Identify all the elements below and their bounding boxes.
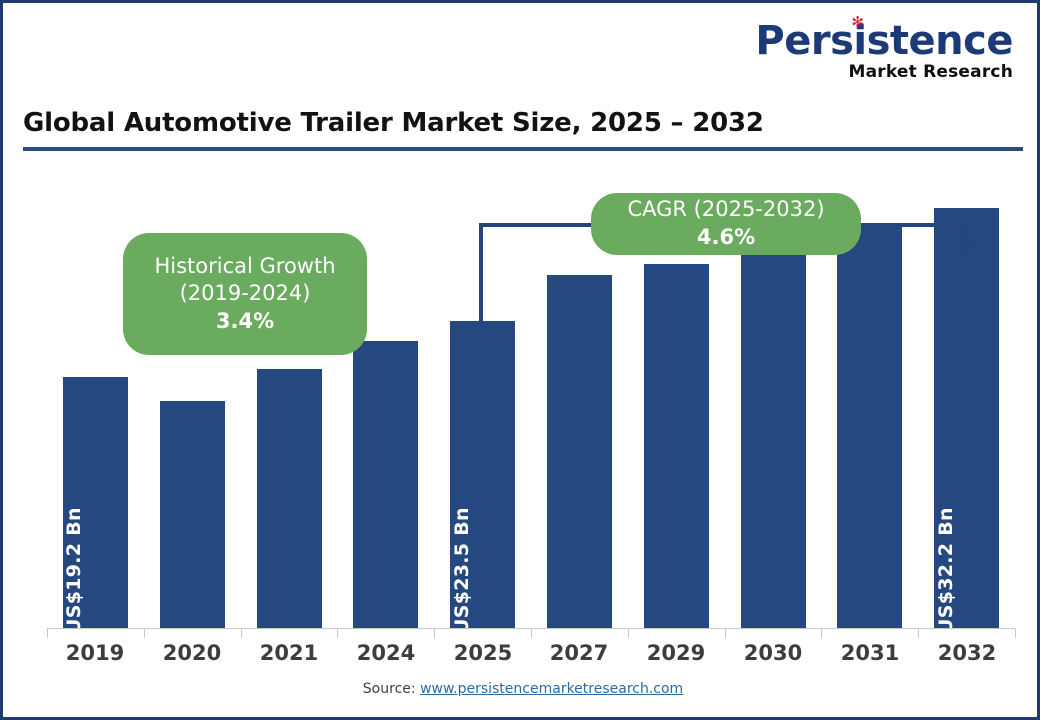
x-label-2032: 2032: [919, 641, 1015, 665]
x-tick-end: [1015, 629, 1016, 638]
bar-2021: [257, 369, 322, 628]
bar-2031: [837, 226, 902, 628]
historical-growth-value: 3.4%: [216, 307, 274, 335]
x-tick-2019: [47, 629, 48, 638]
cagr-callout: CAGR (2025-2032) 4.6%: [591, 193, 861, 255]
bar-2024: [353, 341, 418, 628]
x-tick-2032: [918, 629, 919, 638]
x-label-2029: 2029: [628, 641, 724, 665]
bar-value-label-2032: US$32.2 Bn: [935, 507, 957, 634]
x-label-2031: 2031: [822, 641, 918, 665]
chart-page: Persistence ✻ Market Research Global Aut…: [0, 0, 1040, 720]
cagr-value: 4.6%: [697, 223, 755, 251]
x-tick-2025: [434, 629, 435, 638]
x-label-2025: 2025: [435, 641, 531, 665]
x-tick-2024: [337, 629, 338, 638]
x-tick-2020: [144, 629, 145, 638]
x-tick-2021: [241, 629, 242, 638]
arrow-down-icon: [954, 241, 976, 255]
x-label-2030: 2030: [725, 641, 821, 665]
bar-2027: [547, 275, 612, 628]
cagr-connector-horizontal-right: [853, 223, 967, 227]
x-label-2020: 2020: [144, 641, 240, 665]
bar-value-label-2019: US$19.2 Bn: [63, 507, 85, 634]
cagr-title: CAGR (2025-2032): [627, 196, 824, 223]
historical-growth-title: Historical Growth: [154, 253, 335, 280]
bar-2030: [741, 245, 806, 628]
historical-growth-period: (2019-2024): [180, 280, 311, 307]
historical-growth-callout: Historical Growth (2019-2024) 3.4%: [123, 233, 367, 355]
x-tick-2031: [821, 629, 822, 638]
source-line: Source: www.persistencemarketresearch.co…: [3, 681, 1040, 697]
x-label-2027: 2027: [531, 641, 627, 665]
x-tick-2027: [531, 629, 532, 638]
source-prefix: Source:: [363, 681, 420, 697]
x-label-2019: 2019: [47, 641, 143, 665]
bar-2029: [644, 264, 709, 628]
bar-chart: US$19.2 Bn US$23.5 Bn US$32.2 Bn 2019202…: [3, 3, 1040, 720]
x-tick-2030: [725, 629, 726, 638]
cagr-connector-horizontal-left: [479, 223, 599, 227]
cagr-connector-vertical-left: [479, 223, 483, 379]
source-link[interactable]: www.persistencemarketresearch.com: [420, 681, 683, 697]
x-label-2021: 2021: [241, 641, 337, 665]
bar-value-label-2025: US$23.5 Bn: [451, 507, 473, 634]
bar-2020: [160, 401, 225, 628]
x-tick-2029: [628, 629, 629, 638]
x-label-2024: 2024: [338, 641, 434, 665]
